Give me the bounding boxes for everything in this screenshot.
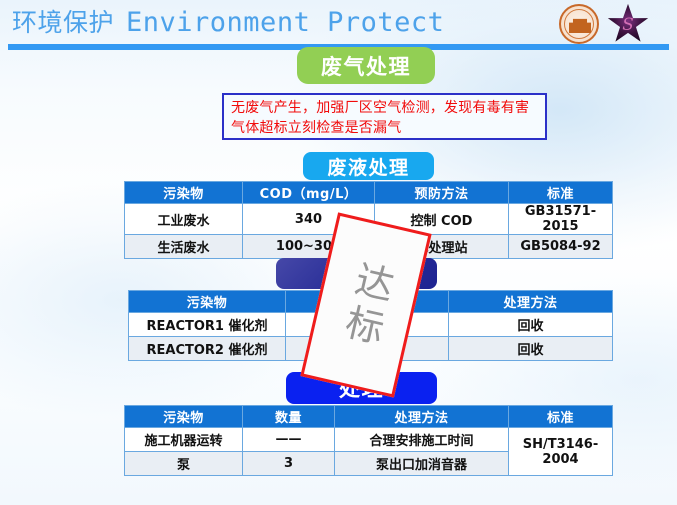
- col-pollutant: 污染物: [129, 291, 286, 313]
- table-header-row: 污染物 数量 处理方法 标准: [125, 406, 613, 428]
- cell-quantity: ——: [243, 428, 335, 452]
- cell-pollutant: 施工机器运转: [125, 428, 243, 452]
- slide-header: 环境保护Environment Protect S: [0, 0, 677, 44]
- logo-group: S: [551, 2, 669, 46]
- page-title-cn: 环境保护: [12, 8, 114, 37]
- cell-pollutant: REACTOR2 催化剂: [129, 337, 286, 361]
- cell-treatment: 泵出口加消音器: [335, 452, 509, 476]
- noise-table: 污染物 数量 处理方法 标准 施工机器运转 —— 合理安排施工时间 SH/T31…: [124, 405, 613, 476]
- section-chip-waste-liquid: 废液处理: [303, 152, 434, 180]
- cell-pollutant: 泵: [125, 452, 243, 476]
- section-chip-waste-gas: 废气处理: [297, 47, 435, 84]
- purple-star-logo-icon: S: [607, 3, 649, 45]
- col-quantity: 数量: [243, 406, 335, 428]
- col-pollutant: 污染物: [125, 406, 243, 428]
- col-treatment: 处理方法: [335, 406, 509, 428]
- cell-standard: GB5084-92: [509, 235, 613, 259]
- company-seal-logo-icon: [559, 4, 599, 44]
- col-standard: 标准: [509, 406, 613, 428]
- cell-treatment: 合理安排施工时间: [335, 428, 509, 452]
- table-header-row: 污染物 COD（mg/L） 预防方法 标准: [125, 182, 613, 204]
- cell-standard: GB31571-2015: [509, 204, 613, 235]
- slide-canvas: 环境保护Environment Protect S 废气处理: [0, 0, 677, 505]
- table-row: 施工机器运转 —— 合理安排施工时间 SH/T3146-2004: [125, 428, 613, 452]
- waste-gas-note-text: 无废气产生，加强厂区空气检测，发现有毒有害气体超标立刻检查是否漏气: [231, 98, 538, 138]
- approval-stamp-text: 达标: [334, 257, 399, 353]
- cell-pollutant: 生活废水: [125, 235, 243, 259]
- cell-standard-merged: SH/T3146-2004: [509, 428, 613, 476]
- svg-text:S: S: [622, 14, 634, 34]
- cell-pollutant: 工业废水: [125, 204, 243, 235]
- col-treatment: 处理方法: [449, 291, 613, 313]
- cell-treatment: 回收: [449, 313, 613, 337]
- page-title: 环境保护Environment Protect: [12, 3, 444, 39]
- col-standard: 标准: [509, 182, 613, 204]
- page-title-en: Environment Protect: [126, 7, 444, 38]
- col-prevention: 预防方法: [375, 182, 509, 204]
- cell-quantity: 3: [243, 452, 335, 476]
- cell-pollutant: REACTOR1 催化剂: [129, 313, 286, 337]
- cell-treatment: 回收: [449, 337, 613, 361]
- seal-glyph-icon: [569, 17, 591, 33]
- waste-gas-note-box: 无废气产生，加强厂区空气检测，发现有毒有害气体超标立刻检查是否漏气: [222, 93, 547, 140]
- col-pollutant: 污染物: [125, 182, 243, 204]
- col-cod: COD（mg/L）: [243, 182, 375, 204]
